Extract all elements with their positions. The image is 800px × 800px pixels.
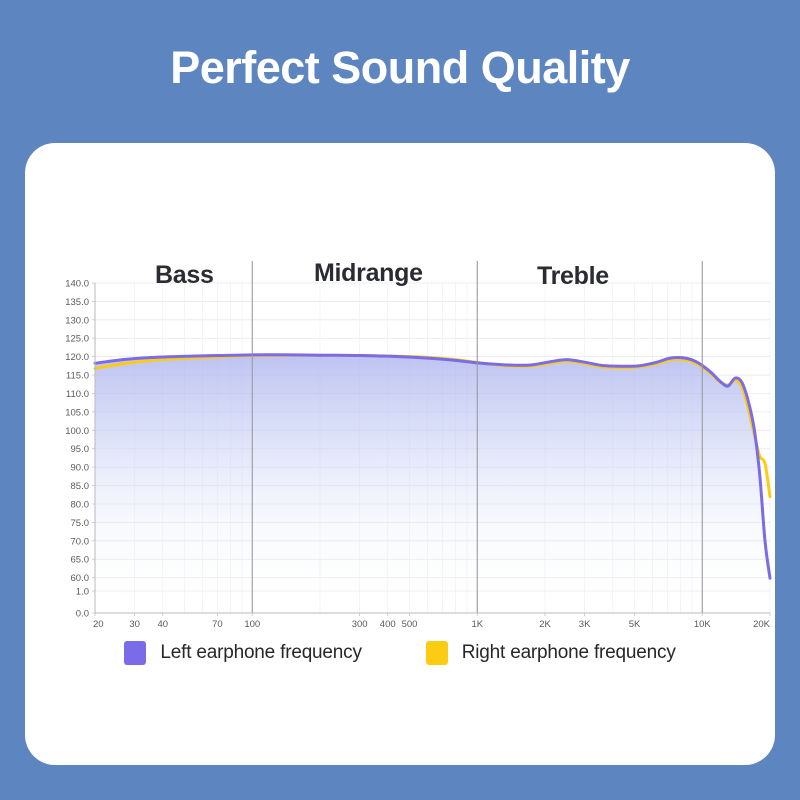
frequency-response-chart: 140.0135.0130.0125.0120.0115.0110.0105.0… [25,143,775,765]
svg-text:60.0: 60.0 [71,573,90,584]
svg-text:75.0: 75.0 [71,518,90,529]
svg-text:0.0: 0.0 [76,609,89,620]
svg-text:2K: 2K [539,619,551,630]
svg-text:90.0: 90.0 [71,463,90,474]
legend-item-right[interactable]: Right earphone frequency [426,641,676,665]
svg-text:20K: 20K [753,619,771,630]
svg-text:500: 500 [402,619,418,630]
svg-text:95.0: 95.0 [71,444,90,455]
svg-text:400: 400 [380,619,396,630]
legend-swatch-right-icon [426,641,448,665]
chart-legend: Left earphone frequency Right earphone f… [25,641,775,665]
svg-text:65.0: 65.0 [71,555,90,566]
svg-text:5K: 5K [629,619,641,630]
svg-text:100: 100 [244,619,260,630]
svg-text:1K: 1K [471,619,483,630]
svg-text:105.0: 105.0 [65,407,89,418]
svg-text:20: 20 [93,619,104,630]
svg-text:115.0: 115.0 [66,371,89,382]
svg-text:110.0: 110.0 [66,389,89,400]
legend-label-left: Left earphone frequency [160,642,361,664]
page-title: Perfect Sound Quality [0,38,800,98]
svg-text:40: 40 [157,619,168,630]
svg-text:3K: 3K [579,619,591,630]
legend-swatch-left-icon [124,641,146,665]
chart-card: 140.0135.0130.0125.0120.0115.0110.0105.0… [25,143,775,765]
svg-text:10K: 10K [694,619,712,630]
svg-text:80.0: 80.0 [71,499,90,510]
svg-text:70: 70 [212,619,223,630]
svg-text:300: 300 [352,619,368,630]
svg-text:120.0: 120.0 [65,352,89,363]
chart-svg: 140.0135.0130.0125.0120.0115.0110.0105.0… [25,143,775,765]
svg-text:85.0: 85.0 [71,481,90,492]
svg-text:125.0: 125.0 [65,334,89,345]
legend-label-right: Right earphone frequency [462,642,676,664]
svg-text:140.0: 140.0 [65,279,89,290]
legend-item-left[interactable]: Left earphone frequency [124,641,361,665]
svg-text:1.0: 1.0 [76,587,89,598]
svg-text:100.0: 100.0 [65,426,89,437]
svg-text:130.0: 130.0 [65,315,89,326]
svg-text:30: 30 [129,619,140,630]
svg-text:70.0: 70.0 [71,536,90,547]
svg-text:135.0: 135.0 [65,297,89,308]
